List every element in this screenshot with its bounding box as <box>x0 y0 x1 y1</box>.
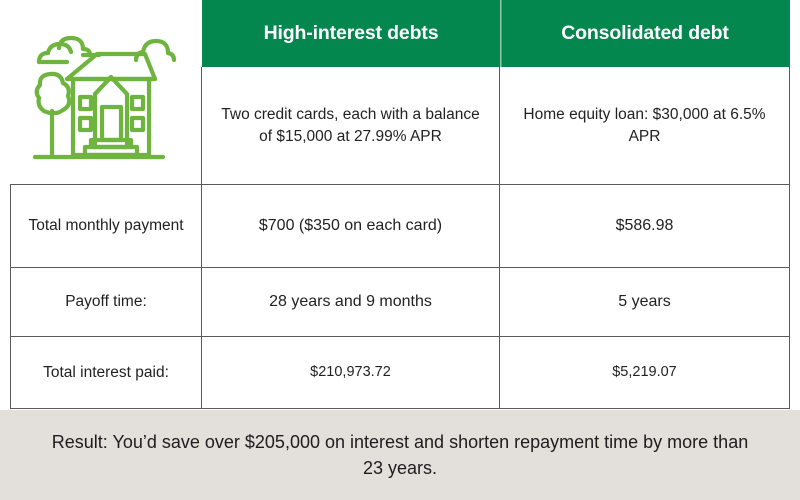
cell-consolidated-description: Home equity loan: $30,000 at 6.5% APR <box>500 67 790 185</box>
house-with-tree-icon <box>31 87 181 165</box>
row-label-total-monthly-payment: Total monthly payment <box>10 185 202 268</box>
house-illustration-cell <box>10 67 202 185</box>
debt-consolidation-comparison-infographic: High-interest debts Consolidated debt <box>0 0 800 500</box>
comparison-table: High-interest debts Consolidated debt <box>10 0 790 410</box>
cell-payoff-time-consolidated: 5 years <box>500 268 790 337</box>
table-header-high-interest-debts: High-interest debts <box>202 0 500 67</box>
table-header-consolidated-debt: Consolidated debt <box>500 0 790 67</box>
result-summary-bar: Result: You’d save over $205,000 on inte… <box>0 410 800 500</box>
row-label-total-interest-paid: Total interest paid: <box>10 337 202 409</box>
cell-high-interest-description: Two credit cards, each with a balance of… <box>202 67 500 185</box>
cell-total-interest-high-interest: $210,973.72 <box>202 337 500 409</box>
cell-monthly-payment-consolidated: $586.98 <box>500 185 790 268</box>
row-label-payoff-time: Payoff time: <box>10 268 202 337</box>
cell-monthly-payment-high-interest: $700 ($350 on each card) <box>202 185 500 268</box>
cell-payoff-time-high-interest: 28 years and 9 months <box>202 268 500 337</box>
result-summary-text: Result: You’d save over $205,000 on inte… <box>44 429 756 481</box>
cell-total-interest-consolidated: $5,219.07 <box>500 337 790 409</box>
